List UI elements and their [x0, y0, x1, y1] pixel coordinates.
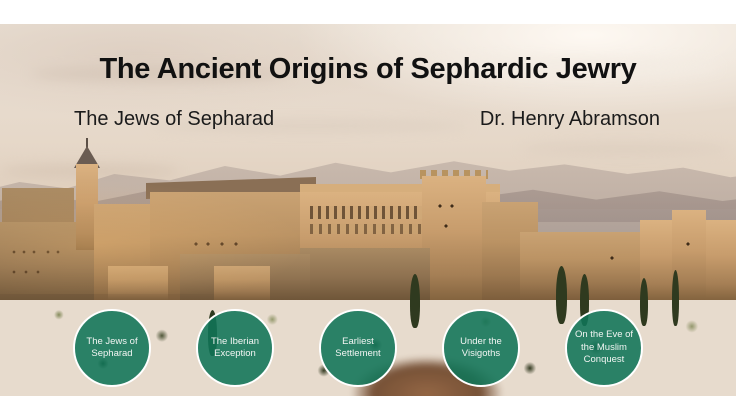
slide-subtitle: The Jews of Sepharad	[74, 108, 274, 131]
presenter-name: Dr. Henry Abramson	[480, 108, 660, 131]
nav-circle-under-the-visigoths[interactable]: Under the Visigoths	[442, 309, 520, 387]
nav-circle-on-the-eve-of-the-muslim-conquest[interactable]: On the Eve of the Muslim Conquest	[565, 309, 643, 387]
nav-circle-label-line1: Under the	[460, 336, 502, 349]
nav-circle-label-line2: Settlement	[335, 348, 380, 361]
presentation-slide: The Ancient Origins of Sephardic Jewry T…	[0, 0, 736, 414]
top-letterbox-bar	[0, 0, 736, 24]
nav-circle-the-iberian-exception[interactable]: The Iberian Exception	[196, 309, 274, 387]
nav-circle-label-line1: The Jews of	[86, 336, 137, 349]
nav-circle-label-line1: Earliest	[335, 336, 380, 349]
subtitle-row: The Jews of Sepharad Dr. Henry Abramson	[74, 108, 660, 131]
bottom-letterbox-bar	[0, 396, 736, 414]
nav-circle-label-line1: The Iberian	[211, 336, 259, 349]
section-navigation: The Jews of Sepharad The Iberian Excepti…	[0, 309, 736, 389]
page-title: The Ancient Origins of Sephardic Jewry	[0, 53, 736, 86]
nav-circle-label-line2: Visigoths	[460, 348, 502, 361]
nav-circle-label-line2: the Muslim	[575, 342, 633, 355]
cloud-streak	[520, 142, 730, 156]
nav-circle-the-jews-of-sepharad[interactable]: The Jews of Sepharad	[73, 309, 151, 387]
nav-circle-label-line2: Sepharad	[86, 348, 137, 361]
nav-circle-label-line2: Exception	[211, 348, 259, 361]
nav-circle-earliest-settlement[interactable]: Earliest Settlement	[319, 309, 397, 387]
nav-circle-label-line3: Conquest	[575, 354, 633, 367]
nav-circle-label-line1: On the Eve of	[575, 329, 633, 342]
